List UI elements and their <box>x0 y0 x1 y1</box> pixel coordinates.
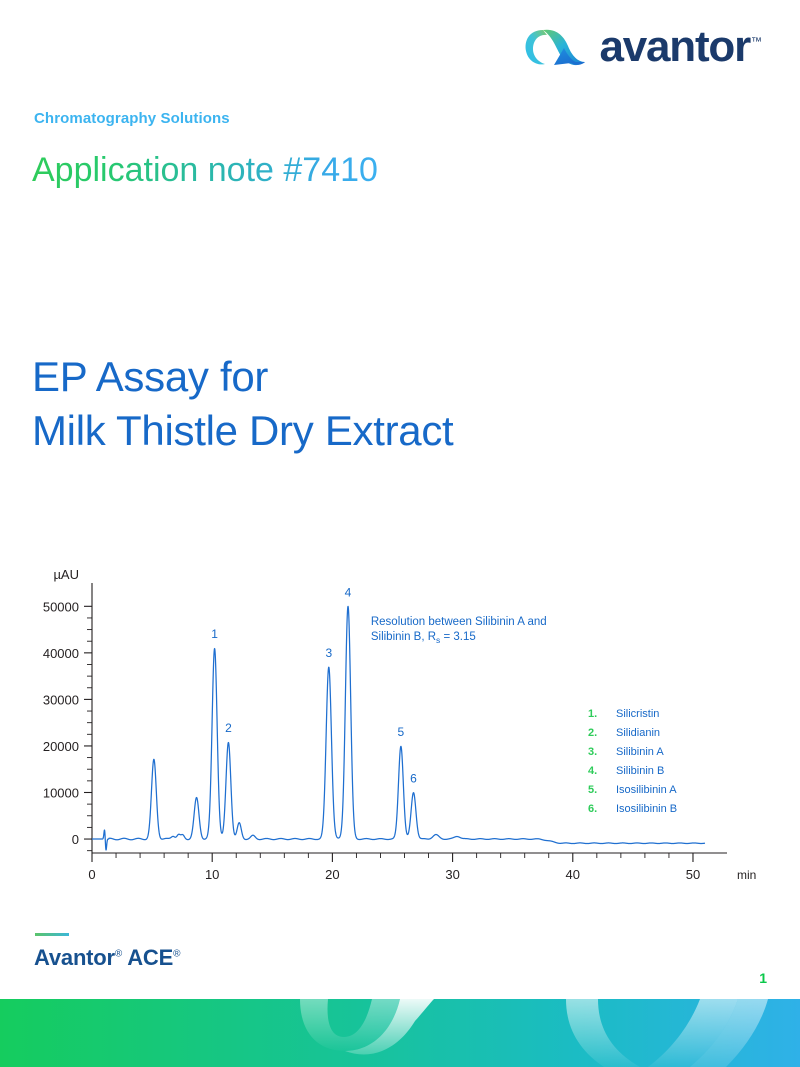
peak-label-2: 2 <box>225 721 232 735</box>
legend-item-number: 3. <box>588 743 616 762</box>
legend-item: 1.Silicristin <box>588 705 677 724</box>
x-axis-label: min <box>737 868 756 882</box>
footer-brand-sup-2: ® <box>173 949 180 960</box>
legend-item-label: Isosilibinin B <box>616 800 677 819</box>
resolution-annotation-prefix: Silibinin B, R <box>371 631 436 643</box>
peak-label-6: 6 <box>410 771 417 785</box>
y-axis-tick-label: 20000 <box>43 739 79 754</box>
legend-item-number: 1. <box>588 705 616 724</box>
y-axis-tick-label: 30000 <box>43 692 79 707</box>
x-axis-tick-label: 40 <box>566 867 580 882</box>
trademark-symbol: ™ <box>751 36 762 48</box>
x-axis-tick-label: 50 <box>686 867 700 882</box>
legend-item-label: Silicristin <box>616 705 659 724</box>
legend-item-number: 6. <box>588 800 616 819</box>
peak-legend: 1.Silicristin2.Silidianin3.Silibinin A4.… <box>588 705 677 819</box>
resolution-annotation-line-2: Silibinin B, Rs = 3.15 <box>371 631 476 645</box>
page-title-line-2: Milk Thistle Dry Extract <box>32 404 453 458</box>
footer-decorative-band <box>0 999 800 1067</box>
resolution-annotation-line-1: Resolution between Silibinin A and <box>371 616 547 628</box>
resolution-annotation-suffix: = 3.15 <box>440 631 476 643</box>
legend-item-number: 5. <box>588 781 616 800</box>
chromatogram-figure: 01020304050min01000020000300004000050000… <box>0 565 800 905</box>
page-title: EP Assay for Milk Thistle Dry Extract <box>32 350 453 458</box>
legend-item-number: 4. <box>588 762 616 781</box>
page-title-line-1: EP Assay for <box>32 350 453 404</box>
footer-gradient-rule <box>35 933 69 936</box>
logo-wordmark: avantor <box>599 22 750 71</box>
y-axis-label: µAU <box>53 567 79 582</box>
legend-item-label: Silibinin A <box>616 743 664 762</box>
legend-item: 2.Silidianin <box>588 724 677 743</box>
legend-item-label: Silibinin B <box>616 762 664 781</box>
y-axis-tick-label: 50000 <box>43 599 79 614</box>
legend-item-label: Silidianin <box>616 724 660 743</box>
footer-brand: Avantor® ACE® <box>34 945 180 971</box>
footer-brand-avantor: Avantor <box>34 945 115 970</box>
legend-item: 4.Silibinin B <box>588 762 677 781</box>
x-axis-tick-label: 10 <box>205 867 219 882</box>
avantor-logo-mark <box>523 24 589 70</box>
legend-item: 3.Silibinin A <box>588 743 677 762</box>
y-axis-tick-label: 0 <box>72 832 79 847</box>
peak-label-5: 5 <box>398 725 405 739</box>
legend-item: 5.Isosilibinin A <box>588 781 677 800</box>
peak-label-3: 3 <box>325 646 332 660</box>
avantor-logo: avantor™ <box>523 24 762 70</box>
legend-item-number: 2. <box>588 724 616 743</box>
legend-item: 6.Isosilibinin B <box>588 800 677 819</box>
footer-brand-sup-1: ® <box>115 949 122 960</box>
y-axis-tick-label: 40000 <box>43 646 79 661</box>
footer-brand-ace: ACE <box>127 945 173 970</box>
peak-label-4: 4 <box>345 585 352 599</box>
application-note-number: Application note #7410 <box>32 152 378 189</box>
eyebrow-label: Chromatography Solutions <box>34 110 230 127</box>
x-axis-tick-label: 0 <box>88 867 95 882</box>
legend-item-label: Isosilibinin A <box>616 781 677 800</box>
page-number: 1 <box>759 970 767 986</box>
y-axis-tick-label: 10000 <box>43 785 79 800</box>
peak-label-1: 1 <box>211 627 218 641</box>
avantor-logo-text: avantor™ <box>599 25 762 69</box>
chromatogram-chart: 01020304050min01000020000300004000050000… <box>0 565 800 905</box>
x-axis-tick-label: 20 <box>325 867 339 882</box>
x-axis-tick-label: 30 <box>445 867 459 882</box>
